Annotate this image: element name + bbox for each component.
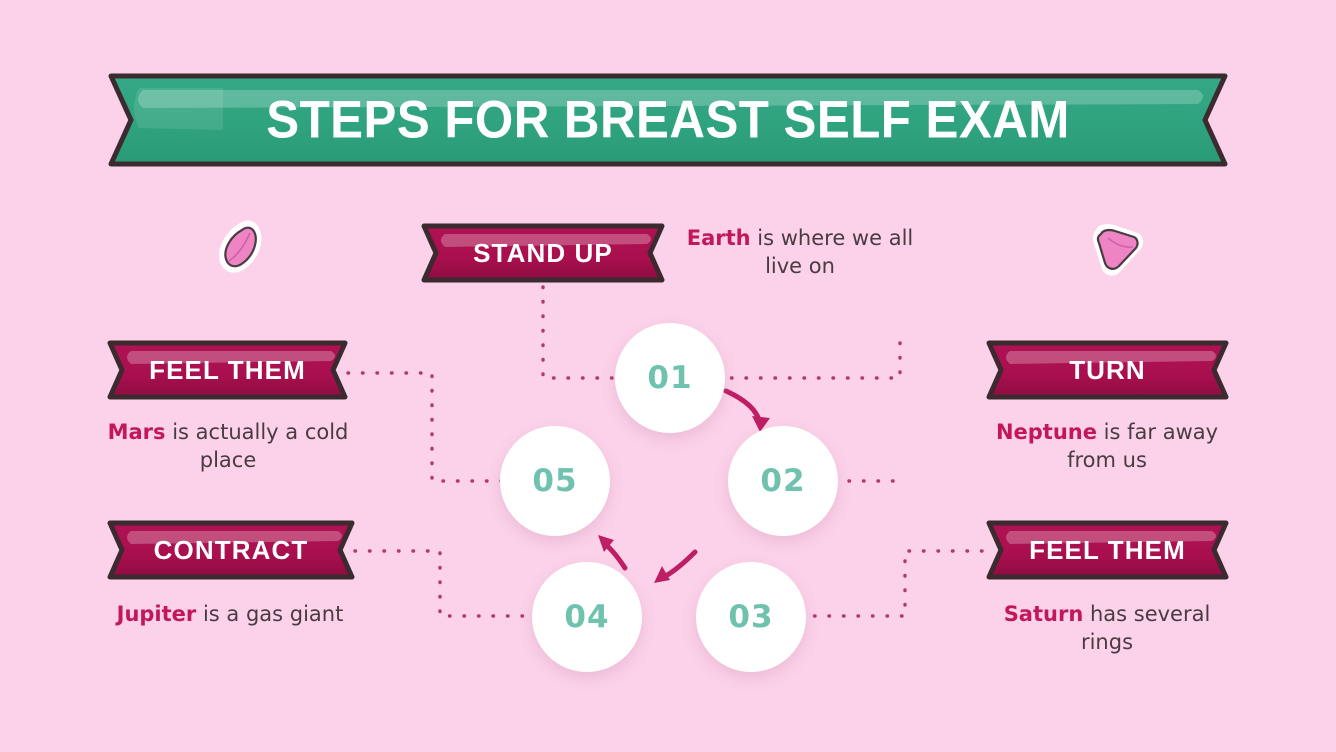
arrowhead-02-to-03: [654, 566, 670, 583]
caption-highlight-05: Mars: [108, 420, 166, 444]
caption-highlight-03: Saturn: [1004, 602, 1084, 626]
step-circle-05[interactable]: 05: [500, 426, 610, 536]
chip-feel-them-right[interactable]: FEEL THEM: [984, 519, 1231, 581]
caption-rest-05: is actually a cold place: [166, 420, 349, 472]
step-circle-01[interactable]: 01: [615, 323, 725, 433]
connector-02-turn: [717, 338, 900, 378]
caption-highlight-02: Neptune: [996, 420, 1097, 444]
caption-rest-03: has several rings: [1081, 602, 1210, 654]
arrow-01-to-02: [726, 391, 760, 424]
caption-rest-04: is a gas giant: [196, 602, 343, 626]
page-title: STEPS FOR BREAST SELF EXAM: [103, 94, 1233, 147]
title-banner: STEPS FOR BREAST SELF EXAM: [103, 70, 1233, 170]
step-circle-02[interactable]: 02: [728, 426, 838, 536]
step-circle-03[interactable]: 03: [696, 562, 806, 672]
chip-feel-them-left[interactable]: FEEL THEM: [105, 339, 350, 401]
step-circle-04[interactable]: 04: [532, 562, 642, 672]
arrowhead-04-to-05: [598, 535, 614, 552]
step-number-03: 03: [728, 599, 773, 635]
arrow-04-to-05: [603, 542, 625, 568]
caption-highlight-04: Jupiter: [117, 602, 197, 626]
chip-label-feel-them-right: FEEL THEM: [984, 537, 1231, 563]
chip-label-stand-up: STAND UP: [419, 240, 667, 266]
arrow-02-to-03: [662, 552, 695, 578]
caption-rest-01: is where we all live on: [751, 226, 914, 278]
chip-stand-up[interactable]: STAND UP: [419, 222, 667, 284]
chip-contract[interactable]: CONTRACT: [105, 519, 357, 581]
connector-05-feelthem: [348, 373, 503, 481]
connector-01-standup: [543, 287, 620, 378]
connector-04-contract: [355, 551, 535, 616]
chip-label-turn: TURN: [984, 357, 1231, 383]
caption-step-04: Jupiter is a gas giant: [100, 601, 360, 629]
step-number-02: 02: [760, 463, 805, 499]
caption-highlight-01: Earth: [687, 226, 751, 250]
petal-sticker-icon: [212, 214, 274, 282]
slide-canvas: STEPS FOR BREAST SELF EXAM: [0, 0, 1336, 752]
chip-label-contract: CONTRACT: [105, 537, 357, 563]
step-number-01: 01: [647, 360, 692, 396]
caption-step-01: Earth is where we all live on: [668, 225, 932, 281]
connector-03-feelthem: [800, 551, 985, 616]
step-number-05: 05: [532, 463, 577, 499]
caption-step-02: Neptune is far away from us: [981, 419, 1233, 475]
step-number-04: 04: [564, 599, 609, 635]
chip-turn[interactable]: TURN: [984, 339, 1231, 401]
caption-step-05: Mars is actually a cold place: [96, 419, 360, 475]
caption-step-03: Saturn has several rings: [981, 601, 1233, 657]
chip-label-feel-them-left: FEEL THEM: [105, 357, 350, 383]
heart-triangle-sticker-icon: [1084, 216, 1150, 282]
